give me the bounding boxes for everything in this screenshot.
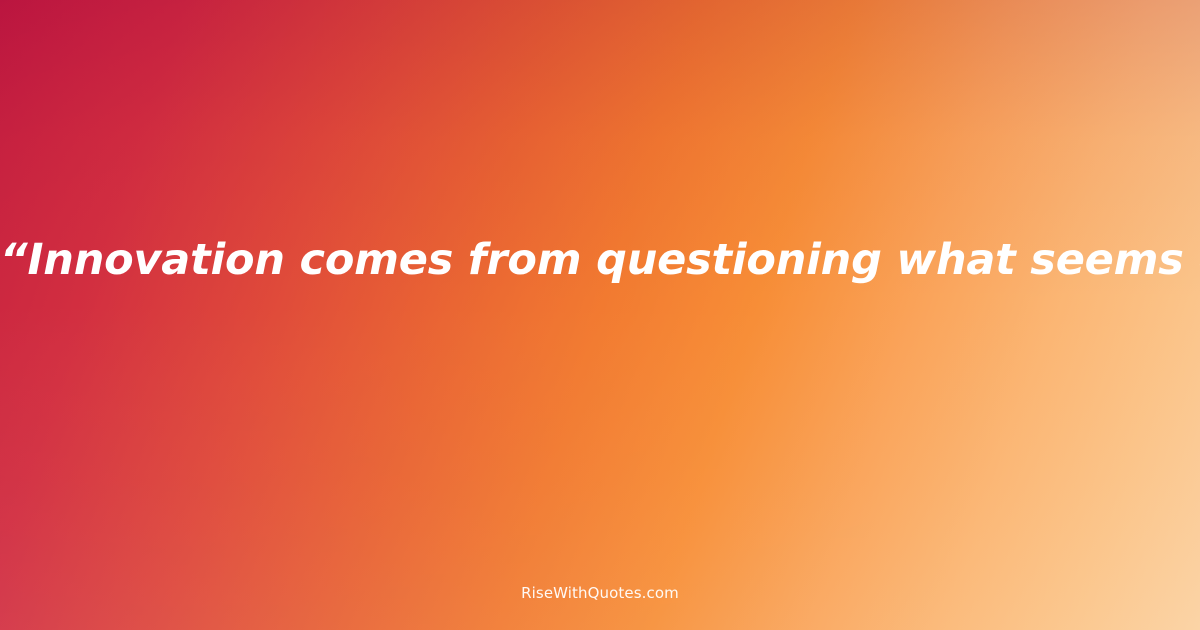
quote-card: “Innovation comes from questioning what … (0, 0, 1200, 630)
footer-site-name: RiseWithQuotes.com (0, 583, 1200, 603)
quote-text: “Innovation comes from questioning what … (0, 232, 1200, 288)
card-content: “Innovation comes from questioning what … (0, 0, 1200, 630)
